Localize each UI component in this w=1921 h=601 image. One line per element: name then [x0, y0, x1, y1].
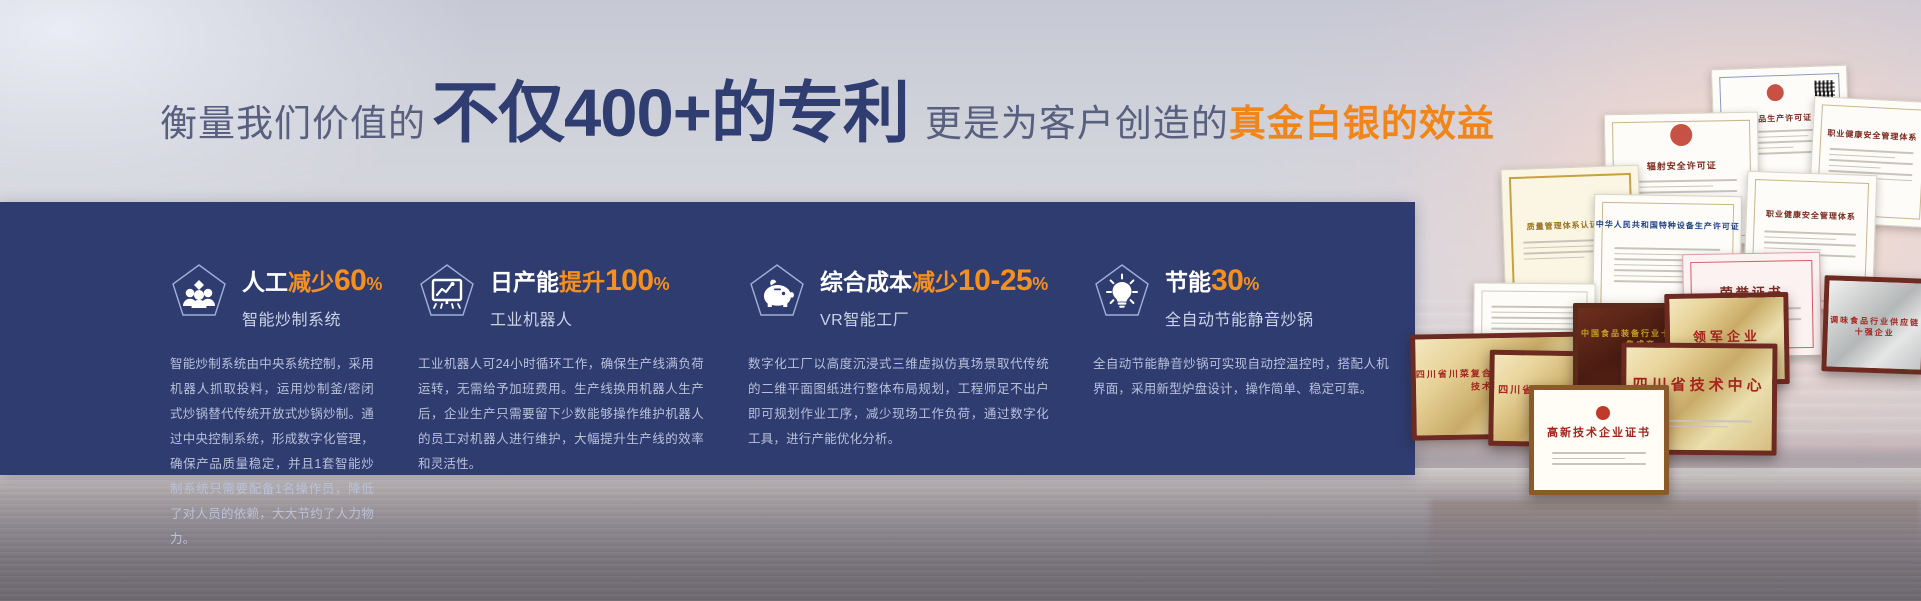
plaque-face — [1534, 390, 1664, 490]
banner-stage: 衡量我们价值的 不仅400+的专利 更是为客户创造的 真金白银的效益 — [0, 0, 1921, 601]
feature-description: 数字化工厂以高度沉浸式三维虚拟仿真场景取代传统的二维平面图纸进行整体布局规划，工… — [748, 352, 1049, 452]
plaque-text-lines — [1552, 452, 1646, 469]
metric-prefix: 人工 — [242, 269, 288, 295]
metric-accent: 减少 — [288, 269, 334, 295]
award-plaque: 调味食品行业供应链十强企业 — [1821, 275, 1921, 375]
feature-card-list: 人工减少60% 智能炒制系统 智能炒制系统由中央系统控制，采用机器人抓取投料，运… — [0, 202, 1415, 475]
metric-accent: 提升 — [559, 269, 605, 295]
chart-board-icon — [418, 262, 476, 320]
plaque-title: 高新技术企业证书 — [1534, 424, 1664, 440]
feature-panel: 人工减少60% 智能炒制系统 智能炒制系统由中央系统控制，采用机器人抓取投料，运… — [0, 202, 1415, 475]
metric-unit: % — [1032, 274, 1048, 294]
people-group-icon — [170, 262, 228, 320]
metric-value: 100 — [605, 264, 654, 297]
feature-card-header: 日产能提升100% 工业机器人 — [418, 262, 704, 330]
feature-subtitle: 智能炒制系统 — [242, 306, 382, 330]
feature-card-header: 人工减少60% 智能炒制系统 — [170, 262, 374, 330]
headline-mid: 更是为客户创造的 — [915, 93, 1229, 147]
metric-accent: 减少 — [912, 269, 958, 295]
plaque-emblem-icon — [1596, 406, 1610, 420]
award-plaque: 高新技术企业证书 — [1529, 385, 1669, 495]
metric-prefix: 综合成本 — [820, 269, 912, 295]
metric-value: 10-25 — [958, 264, 1032, 297]
metric-prefix: 日产能 — [490, 269, 559, 295]
feature-card-headtext: 日产能提升100% 工业机器人 — [490, 262, 670, 330]
certificate-pile: 食品生产许可证 职业健康安全管理体系 辐射安全许可证 质量管理体系认证证书 中华… — [1425, 55, 1921, 575]
headline-emphasis: 不仅400+的专利 — [426, 80, 915, 147]
metric-line: 综合成本减少10-25% — [820, 269, 1048, 295]
lightbulb-icon — [1093, 262, 1151, 320]
metric-prefix: 节能 — [1165, 269, 1211, 295]
feature-card-cost: 综合成本减少10-25% VR智能工厂 数字化工厂以高度沉浸式三维虚拟仿真场景取… — [730, 202, 1075, 475]
metric-unit: % — [654, 274, 670, 294]
headline-lead: 衡量我们价值的 — [160, 93, 426, 147]
metric-line: 人工减少60% — [242, 269, 382, 295]
feature-card-headtext: 人工减少60% 智能炒制系统 — [242, 262, 382, 330]
feature-card-energy: 节能30% 全自动节能静音炒锅 全自动节能静音炒锅可实现自动控温控时，搭配人机界… — [1075, 202, 1415, 475]
feature-card-headtext: 综合成本减少10-25% VR智能工厂 — [820, 262, 1048, 330]
feature-subtitle: 全自动节能静音炒锅 — [1165, 306, 1314, 330]
feature-card-header: 节能30% 全自动节能静音炒锅 — [1093, 262, 1389, 330]
plaque-title: 调味食品行业供应链十强企业 — [1828, 314, 1921, 339]
feature-subtitle: 工业机器人 — [490, 306, 670, 330]
metric-unit: % — [366, 274, 382, 294]
metric-value: 60 — [334, 264, 366, 297]
feature-description: 工业机器人可24小时循环工作，确保生产线满负荷运转，无需给予加班费用。生产线换用… — [418, 352, 704, 477]
metric-line: 节能30% — [1165, 269, 1259, 295]
feature-card-capacity: 日产能提升100% 工业机器人 工业机器人可24小时循环工作，确保生产线满负荷运… — [400, 202, 730, 475]
pile-reflection — [1430, 500, 1920, 590]
feature-description: 全自动节能静音炒锅可实现自动控温控时，搭配人机界面，采用新型炉盘设计，操作简单、… — [1093, 352, 1389, 402]
feature-subtitle: VR智能工厂 — [820, 306, 1048, 330]
metric-unit: % — [1243, 274, 1259, 294]
piggy-bank-icon — [748, 262, 806, 320]
feature-card-headtext: 节能30% 全自动节能静音炒锅 — [1165, 262, 1314, 330]
metric-value: 30 — [1211, 264, 1243, 297]
headline: 衡量我们价值的 不仅400+的专利 更是为客户创造的 真金白银的效益 — [160, 80, 1495, 147]
feature-description: 智能炒制系统由中央系统控制，采用机器人抓取投料，运用炒制釜/密闭式炒锅替代传统开… — [170, 352, 374, 552]
feature-card-labor: 人工减少60% 智能炒制系统 智能炒制系统由中央系统控制，采用机器人抓取投料，运… — [0, 202, 400, 475]
metric-line: 日产能提升100% — [490, 269, 670, 295]
feature-card-header: 综合成本减少10-25% VR智能工厂 — [748, 262, 1049, 330]
